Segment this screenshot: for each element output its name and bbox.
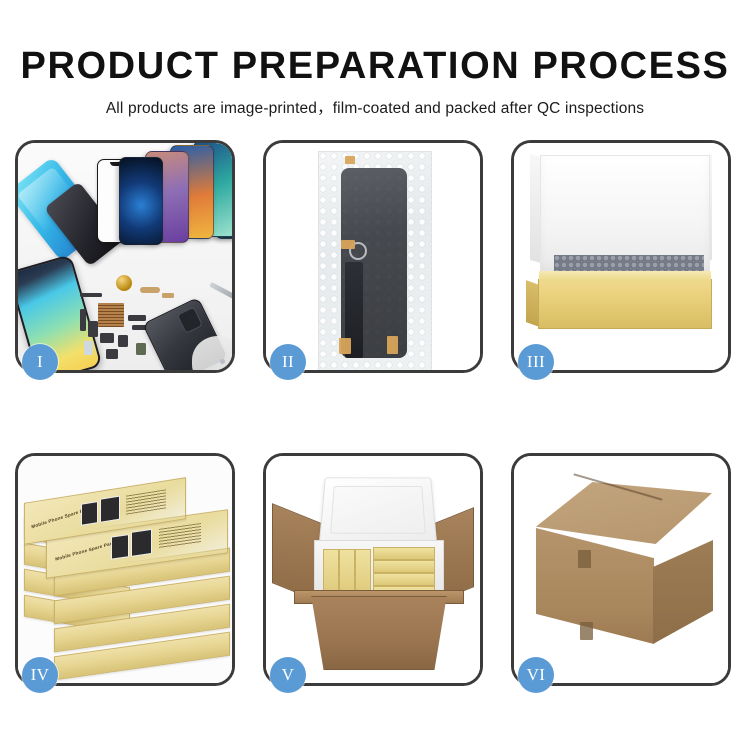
step-panel-4: Mobile Phone Spare Parts Mobile Phone Sp… (15, 453, 235, 686)
page-subtitle: All products are image-printed，film-coat… (0, 88, 750, 119)
step-image-5 (266, 456, 480, 683)
bubble-wrap-package-icon (318, 151, 432, 370)
box-label-lines-1 (126, 489, 166, 514)
step-image-4: Mobile Phone Spare Parts Mobile Phone Sp… (18, 456, 232, 683)
inner-box-4 (373, 547, 435, 560)
tape-icon-3 (339, 338, 351, 354)
speaker-component-icon (116, 275, 132, 291)
step-panel-5: V (263, 453, 483, 686)
inner-box-5 (373, 560, 435, 573)
part-strip-7 (100, 333, 114, 343)
box-label-lines-2 (159, 523, 201, 549)
box-label-image-2a (111, 534, 129, 560)
part-strip-1 (80, 293, 102, 297)
chip-icon (98, 303, 124, 327)
step-image-6 (514, 456, 728, 683)
part-strip-6 (128, 315, 146, 321)
inner-box-6 (373, 573, 435, 586)
part-strip-9 (84, 341, 93, 355)
carton-front-icon (302, 596, 456, 670)
tape-icon-4 (387, 336, 398, 354)
part-strip-4 (80, 309, 86, 331)
kraft-box-body-icon (538, 279, 712, 329)
step-image-2 (266, 143, 480, 370)
box-label-text-2: Mobile Phone Spare Parts (55, 540, 117, 562)
box-label-image-2b (131, 529, 152, 557)
step-panel-6: VI (511, 453, 731, 686)
process-steps-grid: I II (15, 140, 735, 685)
carton-tape-tab-2 (580, 622, 593, 640)
carton-tape-tab-1 (578, 550, 591, 568)
component-parts-group (80, 271, 232, 370)
tape-icon-1 (345, 156, 355, 164)
screw-icon-1 (220, 359, 225, 364)
step-badge-6: VI (518, 657, 554, 693)
tape-icon-2 (341, 240, 355, 249)
step-panel-2: II (263, 140, 483, 373)
box-label-image-1a (81, 501, 98, 526)
part-strip-8 (118, 335, 128, 347)
step-badge-5: V (270, 657, 306, 693)
step-badge-4: IV (22, 657, 58, 693)
battery-icon (136, 343, 146, 355)
step-badge-2: II (270, 344, 306, 380)
product-preparation-infographic: PRODUCT PREPARATION PROCESS All products… (0, 0, 750, 750)
step-panel-1: I (15, 140, 235, 373)
box-stack-icon: Mobile Phone Spare Parts Mobile Phone Sp… (24, 474, 232, 674)
screw-icon-2 (230, 363, 232, 368)
part-strip-10 (106, 349, 118, 359)
tweezers-icon (209, 282, 232, 305)
step-badge-1: I (22, 344, 58, 380)
step-image-3 (514, 143, 728, 370)
part-strip-5 (88, 321, 98, 337)
step-panel-3: III (511, 140, 731, 373)
phone-icon-1 (119, 157, 163, 245)
foam-lid-icon (319, 477, 437, 544)
page-title: PRODUCT PREPARATION PROCESS (0, 0, 750, 88)
part-strip-2 (140, 287, 160, 293)
box-label-image-1b (100, 496, 120, 523)
step-image-1 (18, 143, 232, 370)
step-badge-3: III (518, 344, 554, 380)
part-strip-3 (162, 293, 174, 298)
header: PRODUCT PREPARATION PROCESS All products… (0, 0, 750, 119)
